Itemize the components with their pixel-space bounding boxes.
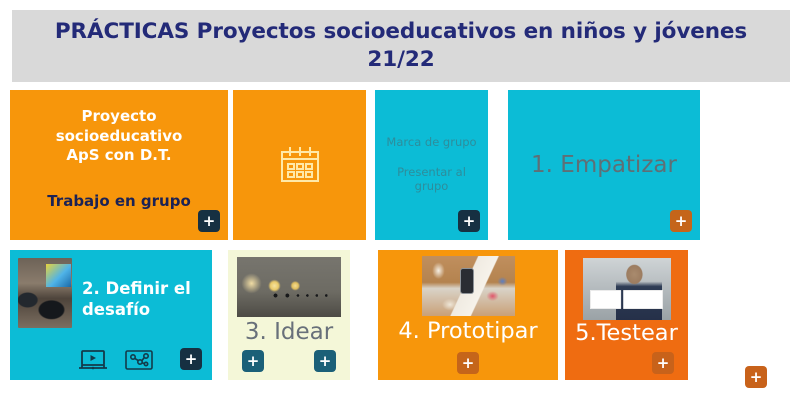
board-canvas: PRÁCTICAS Proyectos socioeducativos en n…: [0, 0, 800, 400]
card-empatizar[interactable]: 1. Empatizar +: [508, 90, 700, 240]
add-item-button-empatizar[interactable]: +: [670, 210, 692, 232]
add-item-button-idear-left[interactable]: +: [242, 350, 264, 372]
card-definir-title: 2. Definir el desafío: [82, 278, 206, 320]
card-testear-thumbnail: possible: [583, 258, 671, 320]
card-proyecto-subtitle: Trabajo en grupo: [47, 192, 191, 210]
add-item-button-marca[interactable]: +: [458, 210, 480, 232]
crossed-out-prefix: [592, 294, 610, 304]
add-item-button-definir[interactable]: +: [180, 348, 202, 370]
page-title: PRÁCTICAS Proyectos socioeducativos en n…: [40, 18, 762, 75]
add-item-button-idear-right[interactable]: +: [314, 350, 336, 372]
card-empatizar-title: 1. Empatizar: [531, 152, 677, 178]
card-calendar[interactable]: [233, 90, 366, 240]
card-proyecto-socioeducativo[interactable]: Proyecto socioeducativo ApS con D.T. Tra…: [10, 90, 228, 240]
card-prototipar-title: 4. Prototipar: [398, 318, 537, 344]
card-marca-line1: Marca de grupo: [386, 136, 476, 150]
board-header: PRÁCTICAS Proyectos socioeducativos en n…: [12, 10, 790, 82]
add-column-button[interactable]: +: [745, 366, 767, 388]
card-testear-title: 5.Testear: [575, 320, 678, 346]
card-definir-thumbnail: [18, 258, 72, 328]
add-item-button-prototipar[interactable]: +: [457, 352, 479, 374]
calendar-icon: [279, 145, 321, 185]
add-item-button-testear[interactable]: +: [652, 352, 674, 374]
card-definir-el-desafio[interactable]: 2. Definir el desafío +: [10, 250, 212, 380]
card-marca-de-grupo[interactable]: Marca de grupo Presentar al grupo +: [375, 90, 488, 240]
network-graph-icon[interactable]: [124, 348, 154, 372]
card-idear[interactable]: 3. Idear + +: [228, 250, 350, 380]
card-marca-line2: Presentar al grupo: [379, 166, 484, 194]
video-laptop-icon[interactable]: [78, 348, 108, 372]
card-idear-thumbnail: [237, 257, 341, 317]
card-idear-title: 3. Idear: [245, 319, 333, 345]
card-prototipar[interactable]: 4. Prototipar +: [378, 250, 558, 380]
card-prototipar-thumbnail: [422, 256, 515, 316]
card-proyecto-title: Proyecto socioeducativo ApS con D.T.: [56, 107, 183, 166]
add-item-button-proyecto[interactable]: +: [198, 210, 220, 232]
card-testear[interactable]: possible 5.Testear +: [565, 250, 688, 380]
card-testear-image-text: possible: [627, 293, 663, 302]
